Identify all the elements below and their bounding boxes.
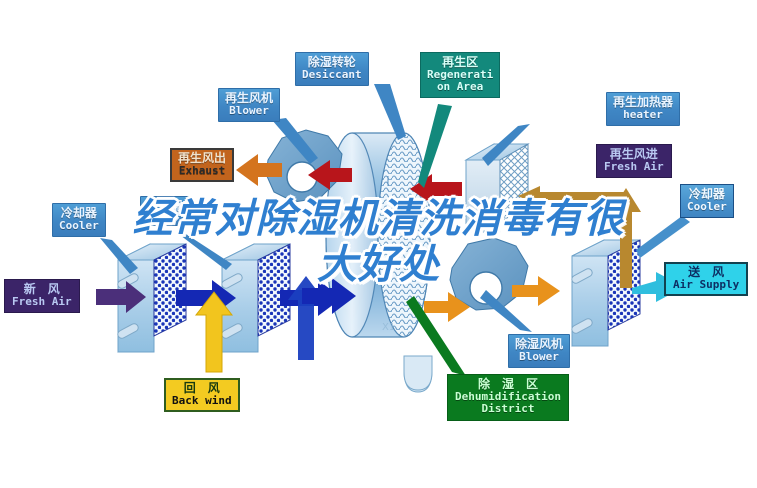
label-regeneration-heater-cn: 再生加热器: [613, 96, 673, 109]
label-exhaust-cn: 再生风出: [178, 152, 226, 165]
label-back-wind-cn: 回 风: [172, 382, 232, 395]
label-air-supply[interactable]: 送 风 Air Supply: [664, 262, 748, 296]
label-exhaust[interactable]: 再生风出 Exhaust: [170, 148, 234, 182]
label-back-wind[interactable]: 回 风 Back wind: [164, 378, 240, 412]
label-cooler-right-en: Cooler: [687, 201, 727, 213]
label-regeneration-area[interactable]: 再生区 Regenerati on Area: [420, 52, 500, 98]
label-dehumidification-district[interactable]: 除 湿 区 Dehumidification District: [447, 374, 569, 421]
label-regeneration-blower[interactable]: 再生风机 Blower: [218, 88, 280, 122]
label-dehumidification-blower-cn: 除湿风机: [515, 338, 563, 351]
label-fresh-air[interactable]: 新 风 Fresh Air: [4, 279, 80, 313]
regeneration-heater-unit: [466, 144, 528, 232]
label-cooler-mid-cn: 冷却器: [147, 200, 183, 213]
label-regeneration-blower-cn: 再生风机: [225, 92, 273, 105]
label-regeneration-blower-en: Blower: [225, 105, 273, 117]
diagram-canvas: X1: [0, 0, 757, 488]
label-regeneration-heater[interactable]: 再生加热器 heater: [606, 92, 680, 126]
label-desiccant-wheel-cn: 除湿转轮: [302, 56, 362, 69]
label-dehumidification-blower-en: Blower: [515, 351, 563, 363]
label-fresh-air-en: Fresh Air: [12, 296, 72, 308]
label-desiccant-wheel[interactable]: 除湿转轮 Desiccant: [295, 52, 369, 86]
label-cooler-left[interactable]: 冷却器 Cooler: [52, 203, 106, 237]
label-exhaust-en: Exhaust: [178, 165, 226, 177]
label-fresh-air-cn: 新 风: [12, 283, 72, 296]
arrow-regen-to-heater: [518, 186, 626, 206]
label-cooler-left-cn: 冷却器: [59, 207, 99, 220]
label-air-supply-en: Air Supply: [673, 279, 739, 291]
label-regeneration-heater-en: heater: [613, 109, 673, 121]
label-cooler-right-cn: 冷却器: [687, 188, 727, 201]
label-regeneration-area-en2: on Area: [427, 81, 493, 93]
wheel-drain-duct: [404, 356, 432, 392]
label-dehumidification-district-en2: District: [455, 403, 561, 415]
label-regeneration-fresh-air-cn: 再生风进: [604, 148, 664, 161]
label-dehumidification-district-cn: 除 湿 区: [455, 378, 561, 391]
label-cooler-right[interactable]: 冷却器 Cooler: [680, 184, 734, 218]
label-regeneration-area-cn: 再生区: [427, 56, 493, 69]
svg-text:X1: X1: [382, 322, 395, 333]
label-regeneration-fresh-air[interactable]: 再生风进 Fresh Air: [596, 144, 672, 178]
label-cooler-left-en: Cooler: [59, 220, 99, 232]
label-cooler-mid[interactable]: 冷却器: [140, 196, 190, 226]
label-regeneration-fresh-air-en: Fresh Air: [604, 161, 664, 173]
dehumidifier-process-diagram: X1: [0, 0, 757, 488]
label-dehumidification-blower[interactable]: 除湿风机 Blower: [508, 334, 570, 368]
label-back-wind-en: Back wind: [172, 395, 232, 407]
label-desiccant-wheel-en: Desiccant: [302, 69, 362, 81]
label-air-supply-cn: 送 风: [673, 266, 739, 279]
